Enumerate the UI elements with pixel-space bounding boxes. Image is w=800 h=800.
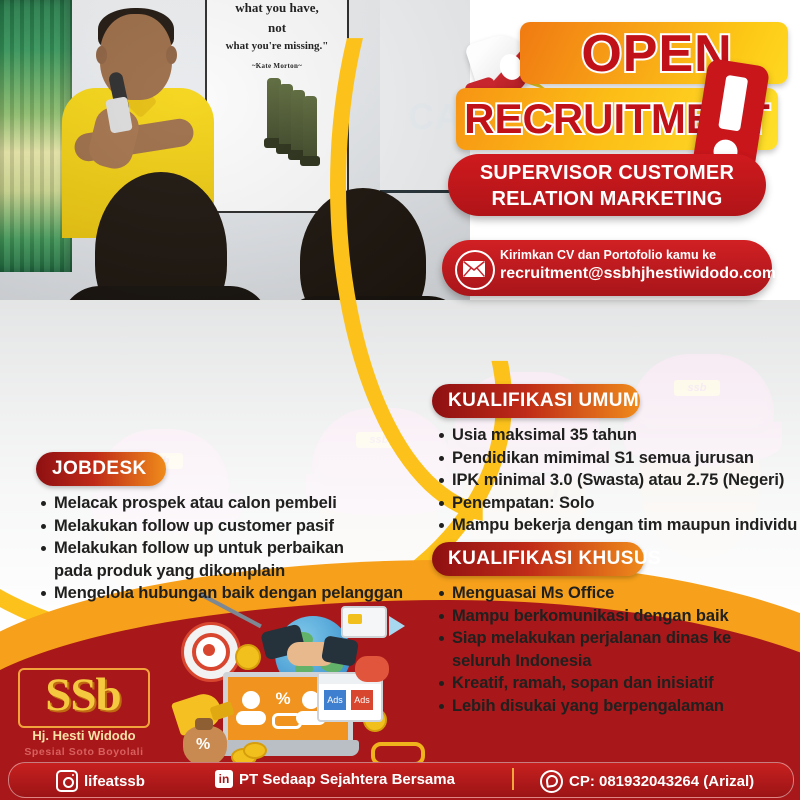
linkedin-handle[interactable]: in PT Sedaap Sejahtera Bersama	[215, 770, 455, 788]
role-line-2: RELATION MARKETING	[448, 186, 766, 212]
handshake-sleeve-right	[321, 635, 359, 667]
list-item: Lebih disukai yang berpengalaman	[452, 695, 792, 718]
envelope-icon	[455, 250, 495, 290]
microphone-icon	[108, 71, 130, 115]
instagram-icon	[56, 770, 78, 792]
contact-label: CP: 081932043264 (Arizal)	[569, 773, 754, 790]
list-item: Menguasai Ms Office	[452, 582, 792, 605]
instagram-handle[interactable]: lifeatssb	[56, 770, 145, 792]
recruitment-poster: what you have, not what you're missing."…	[0, 0, 800, 800]
jobdesk-title: JOBDESK	[52, 458, 147, 480]
kualifikasi-khusus-list: Menguasai Ms Office Mampu berkomunikasi …	[434, 582, 792, 717]
boots-illustration	[267, 78, 329, 176]
ssb-logo-mark: SSb	[22, 666, 144, 724]
footer-divider	[512, 768, 514, 790]
list-item: Melakukan follow up untuk perbaikan	[54, 537, 434, 560]
speaker-ear-right	[166, 46, 177, 64]
whatsapp-contact[interactable]: CP: 081932043264 (Arizal)	[540, 770, 754, 793]
speaker-hair	[98, 8, 174, 52]
speaker-face	[100, 14, 172, 100]
chat-bubble-icon	[355, 656, 389, 682]
motivational-poster: what you have, not what you're missing."…	[205, 0, 349, 213]
quote-line-2: not	[207, 20, 347, 36]
list-item: Mengelola hubungan baik dengan pelanggan	[54, 582, 434, 605]
list-item: IPK minimal 3.0 (Swasta) atau 2.75 (Nege…	[452, 469, 800, 492]
speaker-collar	[116, 77, 157, 118]
role-title: SUPERVISOR CUSTOMER RELATION MARKETING	[448, 160, 766, 212]
kualifikasi-khusus-title: KUALIFIKASI KHUSUS	[448, 548, 661, 570]
list-item: Penempatan: Solo	[452, 492, 800, 515]
email-address[interactable]: recruitment@ssbhjhestiwidodo.com	[500, 265, 776, 283]
paper-plane-icon	[389, 616, 405, 636]
kualifikasi-umum-list: Usia maksimal 35 tahun Pendidikan mimima…	[434, 424, 800, 537]
list-item: Mampu bekerja dengan tim maupun individu	[452, 514, 800, 537]
coin-3	[235, 644, 261, 670]
instagram-label: lifeatssb	[84, 773, 145, 790]
list-item: Usia maksimal 35 tahun	[452, 424, 800, 447]
envelope-glyph	[463, 261, 485, 277]
whatsapp-icon	[540, 770, 563, 793]
ssb-logo-name: Hj. Hesti Widodo	[14, 728, 154, 743]
phone-in-hand	[105, 96, 133, 133]
email-cta-label: Kirimkan CV dan Portofolio kamu ke	[500, 248, 716, 262]
marketing-illustration-cluster: % % Ads Ads	[175, 600, 425, 765]
linkedin-icon: in	[215, 770, 233, 788]
money-bag-knot	[195, 718, 213, 730]
list-item: Kreatif, ramah, sopan dan inisiatif	[452, 672, 792, 695]
speaker-forearm	[85, 104, 142, 173]
role-line-1: SUPERVISOR CUSTOMER	[448, 160, 766, 186]
list-item-continuation: pada produk yang dikomplain	[54, 560, 434, 583]
coin-2	[243, 742, 267, 759]
jobdesk-list: Melacak prospek atau calon pembeli Melak…	[36, 492, 434, 605]
list-item: Siap melakukan perjalanan dinas ke	[452, 627, 792, 650]
list-item: Melacak prospek atau calon pembeli	[54, 492, 434, 515]
ssb-logo-tagline: Spesial Soto Boyolali	[14, 746, 154, 758]
speaker-ear-left	[96, 46, 107, 64]
list-item-continuation: seluruh Indonesia	[452, 650, 792, 673]
money-bag-icon: %	[183, 726, 227, 766]
speaker-shirt	[62, 88, 214, 238]
list-item: Mampu berkomunikasi dengan baik	[452, 605, 792, 628]
credit-card-icon	[341, 606, 387, 638]
quote-line-3: what you're missing."	[207, 40, 347, 52]
green-curtain	[0, 0, 72, 272]
linkedin-label: PT Sedaap Sejahtera Bersama	[239, 771, 455, 788]
quote-author: ~Kate Morton~	[207, 62, 347, 70]
quote-line-1: what you have,	[207, 0, 347, 16]
kualifikasi-umum-title: KUALIFIKASI UMUM	[448, 390, 639, 412]
list-item: Melakukan follow up customer pasif	[54, 515, 434, 538]
speaker-arm-folded	[73, 117, 196, 163]
list-item: Pendidikan mimimal S1 semua jurusan	[452, 447, 800, 470]
